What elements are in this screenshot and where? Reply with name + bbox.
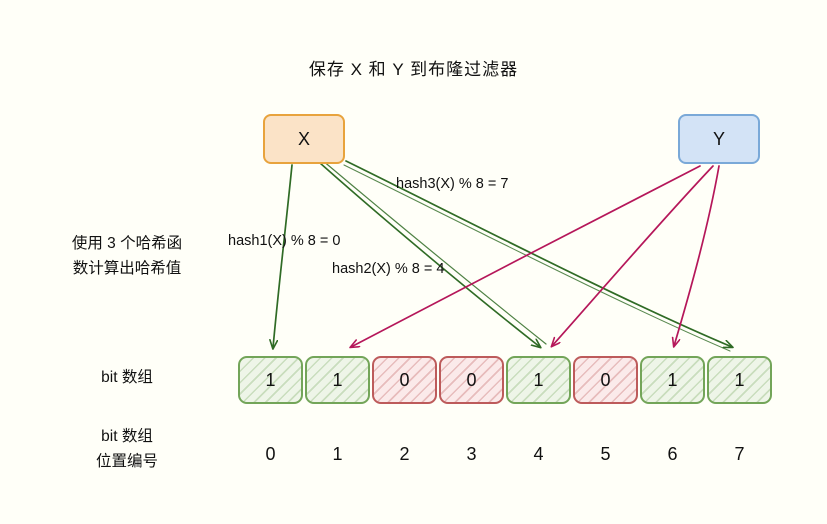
arrow-y-to-bit-6 bbox=[674, 166, 719, 346]
bit-cell-value-3: 0 bbox=[466, 370, 476, 391]
element-box-x[interactable]: X bbox=[263, 114, 345, 164]
bit-cell-7[interactable]: 1 bbox=[707, 356, 772, 404]
bit-index-3: 3 bbox=[439, 444, 504, 465]
bit-cell-value-5: 0 bbox=[600, 370, 610, 391]
arrow-x-to-bit-7-echo bbox=[344, 165, 730, 351]
bit-cell-value-4: 1 bbox=[533, 370, 543, 391]
hash2-label: hash2(X) % 8 = 4 bbox=[332, 261, 444, 277]
bit-index-1: 1 bbox=[305, 444, 370, 465]
bit-index-line-2: 位置编号 bbox=[42, 449, 212, 474]
bit-cell-0[interactable]: 1 bbox=[238, 356, 303, 404]
diagram-canvas: 保存 X 和 Y 到布隆过滤器 X Y hash1(X) % 8 = 0 has… bbox=[0, 0, 827, 524]
element-box-y[interactable]: Y bbox=[678, 114, 760, 164]
arrow-x-to-bit-0 bbox=[273, 165, 292, 348]
hash-note-line-1: 使用 3 个哈希函 bbox=[42, 231, 212, 256]
bit-cell-3[interactable]: 0 bbox=[439, 356, 504, 404]
hash-note-caption: 使用 3 个哈希函 数计算出哈希值 bbox=[42, 231, 212, 281]
hash3-label: hash3(X) % 8 = 7 bbox=[396, 176, 508, 192]
bit-cell-6[interactable]: 1 bbox=[640, 356, 705, 404]
bit-index-7: 7 bbox=[707, 444, 772, 465]
bit-array-caption: bit 数组 bbox=[42, 365, 212, 390]
bit-index-5: 5 bbox=[573, 444, 638, 465]
bit-array: 11001011 bbox=[238, 356, 772, 404]
bit-cell-4[interactable]: 1 bbox=[506, 356, 571, 404]
arrow-y-to-bit-4 bbox=[552, 166, 713, 346]
arrow-y-to-bit-1 bbox=[351, 166, 700, 347]
bit-cell-value-0: 1 bbox=[265, 370, 275, 391]
hash-note-line-2: 数计算出哈希值 bbox=[42, 256, 212, 281]
bit-cell-1[interactable]: 1 bbox=[305, 356, 370, 404]
bit-cell-value-6: 1 bbox=[667, 370, 677, 391]
bit-index-4: 4 bbox=[506, 444, 571, 465]
hash1-label: hash1(X) % 8 = 0 bbox=[228, 233, 340, 249]
bit-index-row: 01234567 bbox=[238, 444, 772, 465]
bit-cell-value-1: 1 bbox=[332, 370, 342, 391]
bit-cell-value-7: 1 bbox=[734, 370, 744, 391]
bit-index-0: 0 bbox=[238, 444, 303, 465]
bit-index-2: 2 bbox=[372, 444, 437, 465]
bit-index-line-1: bit 数组 bbox=[42, 424, 212, 449]
bit-index-caption: bit 数组 位置编号 bbox=[42, 424, 212, 474]
bit-cell-2[interactable]: 0 bbox=[372, 356, 437, 404]
page-title: 保存 X 和 Y 到布隆过滤器 bbox=[0, 55, 827, 80]
element-box-x-label: X bbox=[298, 129, 310, 150]
bit-cell-5[interactable]: 0 bbox=[573, 356, 638, 404]
element-box-y-label: Y bbox=[713, 129, 725, 150]
bit-index-6: 6 bbox=[640, 444, 705, 465]
bit-cell-value-2: 0 bbox=[399, 370, 409, 391]
